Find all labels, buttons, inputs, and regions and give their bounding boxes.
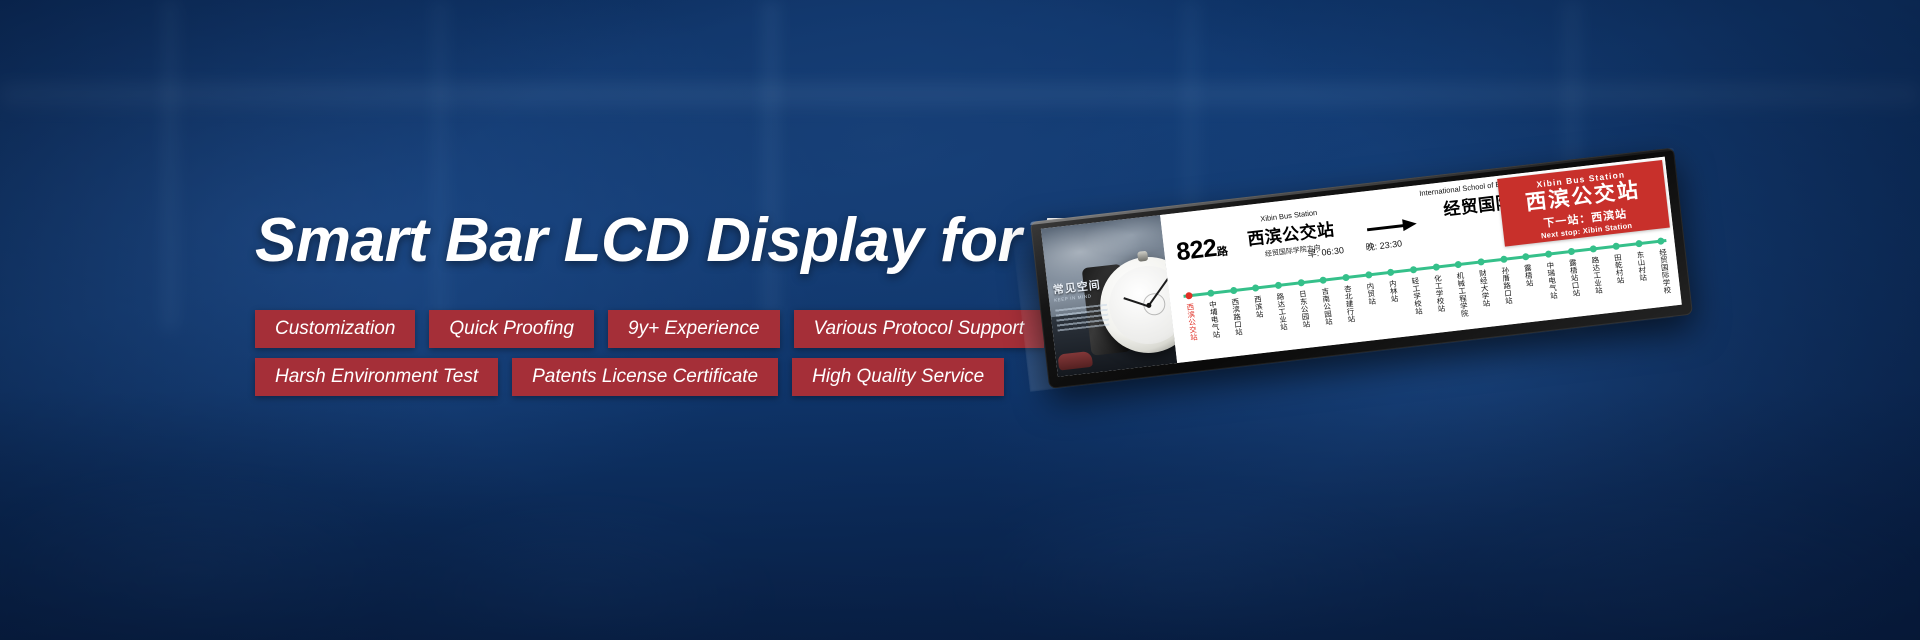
station-stop[interactable]: 路达工业站 — [1586, 243, 1607, 303]
badge-quick-proofing[interactable]: Quick Proofing — [429, 310, 594, 348]
station-name: 西滨公交站 — [1185, 303, 1197, 342]
station-dot-icon — [1657, 237, 1665, 245]
station-name: 东山村站 — [1636, 251, 1647, 282]
station-name: 中埔电气站 — [1208, 300, 1220, 339]
station-name: 轻工学校站 — [1410, 277, 1422, 316]
direction-arrow-icon — [1366, 218, 1417, 236]
station-dot-icon — [1590, 245, 1598, 253]
station-dot-icon — [1432, 263, 1440, 271]
station-name: 杏北建行站 — [1343, 285, 1355, 324]
station-dot-icon — [1522, 253, 1530, 261]
station-dot-icon — [1545, 250, 1553, 258]
station-name: 西滨路口站 — [1230, 298, 1242, 337]
station-name: 机械工程学院 — [1455, 272, 1468, 318]
first-bus-value: 06:30 — [1321, 245, 1345, 258]
station-dot-icon — [1207, 289, 1215, 297]
station-name: 经贸国际学校 — [1658, 248, 1671, 294]
last-bus-time: 晚: 23:30 — [1365, 236, 1403, 253]
station-name: 中瑞电气站 — [1546, 261, 1558, 300]
advertisement-panel[interactable]: 常见空间 KEEP IN MIND — [1041, 215, 1177, 377]
station-dot-icon — [1477, 258, 1485, 266]
route-number: 822路 — [1175, 233, 1229, 268]
station-name: 露梧站 — [1523, 264, 1534, 288]
station-stop[interactable]: 东山村站 — [1631, 237, 1652, 297]
route-number-value: 822 — [1175, 234, 1218, 266]
station-dot-icon — [1635, 240, 1643, 248]
first-bus-time: 早: 06:30 — [1307, 243, 1345, 260]
station-name: 化工学校站 — [1433, 274, 1445, 313]
station-dot-icon — [1252, 284, 1260, 292]
station-name: 路达工业站 — [1275, 292, 1287, 331]
first-bus-label: 早: — [1307, 248, 1320, 259]
station-stop[interactable]: 机械工程学院 — [1451, 258, 1472, 318]
station-stop[interactable]: 日东公园站 — [1293, 276, 1314, 336]
station-dot-icon — [1387, 268, 1395, 276]
last-bus-label: 晚: — [1365, 241, 1378, 252]
feature-badge-row-2: Harsh Environment Test Patents License C… — [255, 358, 1004, 396]
arrow-head — [1402, 218, 1417, 232]
badge-protocol-support[interactable]: Various Protocol Support — [794, 310, 1045, 348]
badge-harsh-environment-test[interactable]: Harsh Environment Test — [255, 358, 498, 396]
station-name: 财经大学站 — [1478, 269, 1490, 308]
station-stop[interactable]: 路达工业站 — [1271, 279, 1292, 339]
station-dot-icon — [1455, 261, 1463, 269]
station-dot-icon — [1320, 276, 1328, 284]
station-name: 路达工业站 — [1591, 256, 1603, 295]
station-dot-icon — [1365, 271, 1373, 279]
station-dot-icon — [1410, 266, 1418, 274]
station-stop[interactable]: 孙厝路口站 — [1496, 253, 1517, 313]
badge-customization[interactable]: Customization — [255, 310, 415, 348]
station-name: 西滨站 — [1253, 295, 1264, 319]
station-dot-icon — [1297, 279, 1305, 287]
next-stop-panel: Xibin Bus Station 西滨公交站 下一站：西滨站 Next sto… — [1497, 160, 1670, 247]
station-name: 内林站 — [1388, 279, 1399, 303]
station-stop[interactable]: 中埔电气站 — [1203, 287, 1224, 347]
watch-crown-icon — [1137, 251, 1148, 262]
station-stop[interactable]: 中瑞电气站 — [1541, 248, 1562, 308]
station-stop[interactable]: 西滨路口站 — [1226, 284, 1247, 344]
last-bus-value: 23:30 — [1379, 238, 1403, 251]
station-stop[interactable]: 西滨公交站 — [1181, 289, 1202, 349]
station-stop[interactable]: 内林站 — [1383, 266, 1404, 326]
station-stop[interactable]: 露梧站口站 — [1564, 245, 1585, 305]
station-stop[interactable]: 内贸站 — [1361, 269, 1382, 329]
station-stop[interactable]: 露梧站 — [1519, 250, 1540, 310]
feature-badge-row-1: Customization Quick Proofing 9y+ Experie… — [255, 310, 1044, 348]
station-dot-icon — [1275, 281, 1283, 289]
station-name: 田乾村站 — [1613, 253, 1624, 284]
station-name: 孙厝路口站 — [1501, 266, 1513, 305]
station-name: 内贸站 — [1365, 282, 1376, 306]
station-dot-icon — [1185, 292, 1193, 300]
station-name: 露梧站口站 — [1568, 258, 1580, 297]
page-title: Smart Bar LCD Display for Bus — [255, 205, 1154, 276]
arrow-shaft — [1367, 224, 1405, 231]
station-dot-icon — [1342, 274, 1350, 282]
badge-patents-license[interactable]: Patents License Certificate — [512, 358, 778, 396]
station-dot-icon — [1567, 248, 1575, 256]
badge-high-quality-service[interactable]: High Quality Service — [792, 358, 1004, 396]
station-dot-icon — [1500, 255, 1508, 263]
route-number-unit: 路 — [1216, 246, 1228, 259]
station-stop[interactable]: 田乾村站 — [1609, 240, 1630, 300]
station-stop[interactable]: 化工学校站 — [1429, 261, 1450, 321]
station-dot-icon — [1230, 287, 1238, 295]
station-name: 吉南公园站 — [1320, 287, 1332, 326]
station-stop[interactable]: 财经大学站 — [1474, 256, 1495, 316]
station-stop[interactable]: 轻工学校站 — [1406, 263, 1427, 323]
station-stop[interactable]: 西滨站 — [1248, 282, 1269, 342]
watch-pivot — [1146, 302, 1152, 308]
station-stop[interactable]: 经贸国际学校 — [1654, 235, 1675, 295]
badge-experience[interactable]: 9y+ Experience — [608, 310, 780, 348]
station-stop[interactable]: 吉南公园站 — [1316, 274, 1337, 334]
station-stop[interactable]: 杏北建行站 — [1338, 271, 1359, 331]
station-name: 日东公园站 — [1298, 290, 1310, 329]
station-dot-icon — [1612, 242, 1620, 250]
